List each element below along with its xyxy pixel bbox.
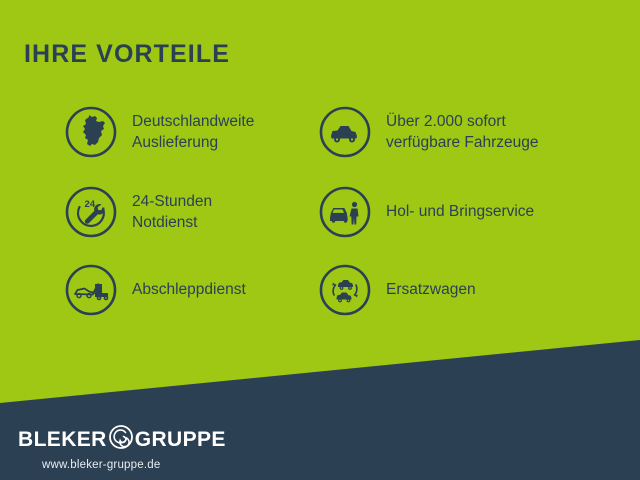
feature-item-24-stunden-notdienst: 24 24-Stunden Notdienst xyxy=(64,172,314,252)
feature-item-deutschlandweite-auslieferung: Deutschlandweite Auslieferung xyxy=(64,92,314,172)
badge-24: 24 xyxy=(85,199,96,210)
feature-label: 24-Stunden Notdienst xyxy=(132,191,212,233)
logo-block: BLEKER GRUPPE www.bleker-gruppe.de xyxy=(18,424,248,471)
car-person-icon xyxy=(318,185,372,239)
feature-item-abschleppdienst: Abschleppdienst xyxy=(64,252,314,328)
feature-label: Über 2.000 sofort verfügbare Fahrzeuge xyxy=(386,111,539,153)
feature-item-verfuegbare-fahrzeuge: Über 2.000 sofort verfügbare Fahrzeuge xyxy=(318,92,618,172)
logo-website-url: www.bleker-gruppe.de xyxy=(42,459,248,471)
germany-map-icon xyxy=(64,105,118,159)
logo-name-part2: GRUPPE xyxy=(135,429,226,450)
spiral-circle-icon xyxy=(108,424,134,454)
car-side-icon xyxy=(318,105,372,159)
feature-label: Hol- und Bringservice xyxy=(386,201,534,222)
slide-canvas: IHRE VORTEILE Deutschlandweite Ausliefer… xyxy=(0,0,640,480)
feature-item-hol-und-bringservice: Hol- und Bringservice xyxy=(318,172,618,252)
page-title: IHRE VORTEILE xyxy=(24,40,230,69)
feature-column-right: Über 2.000 sofort verfügbare Fahrzeuge xyxy=(318,92,618,328)
logo-name-part1: BLEKER xyxy=(18,429,107,450)
feature-column-left: Deutschlandweite Auslieferung 24 24-Stun… xyxy=(64,92,314,328)
wrench-24h-clock-icon: 24 xyxy=(64,185,118,239)
logo-wordmark: BLEKER GRUPPE xyxy=(18,424,248,454)
feature-label: Abschleppdienst xyxy=(132,279,246,300)
feature-item-ersatzwagen: Ersatzwagen xyxy=(318,252,618,328)
two-cars-exchange-icon xyxy=(318,263,372,317)
feature-label: Deutschlandweite Auslieferung xyxy=(132,111,254,153)
feature-label: Ersatzwagen xyxy=(386,279,476,300)
tow-truck-icon xyxy=(64,263,118,317)
